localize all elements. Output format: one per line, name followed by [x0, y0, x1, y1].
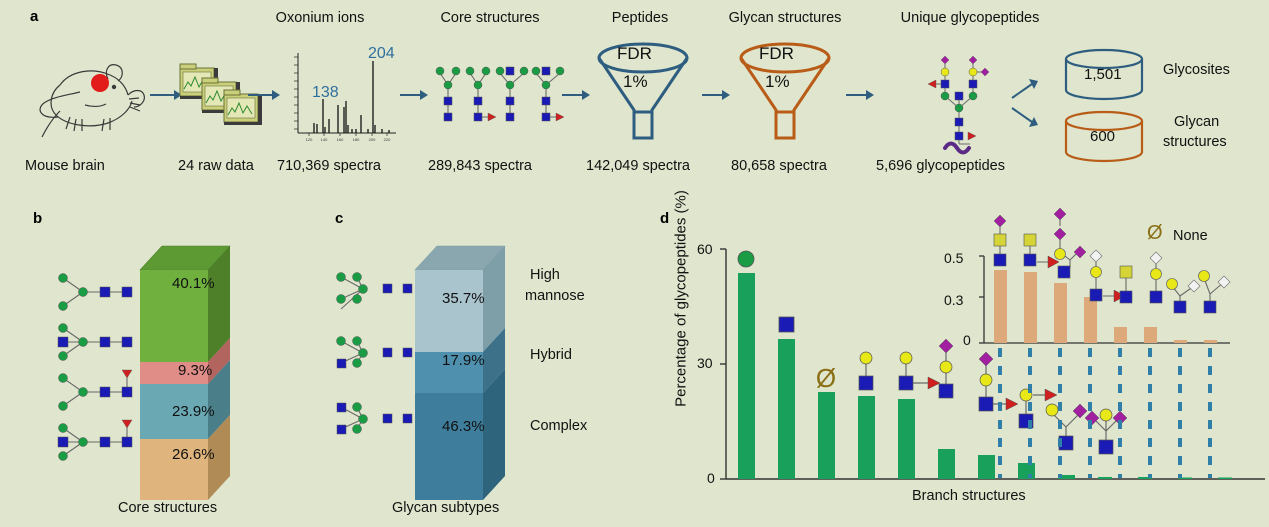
panel-d-inset-glyphs — [978, 200, 1238, 350]
panel-d-letter: d — [660, 210, 669, 227]
panel-c-letter: c — [335, 210, 343, 227]
svg-text:160: 160 — [337, 137, 344, 142]
glycan-structures-label-line1: Glycan — [1174, 114, 1219, 130]
panel-a-letter: a — [30, 8, 38, 25]
inset-ytick-0: 0 — [963, 332, 971, 348]
header-core-structures: Core structures — [405, 10, 575, 26]
arrow-icon-6 — [846, 88, 874, 102]
arrow-icon-2 — [248, 88, 280, 102]
arrow-icon-3 — [400, 88, 428, 102]
caption-total-spectra: 710,369 spectra — [277, 158, 381, 174]
panel-b-value-2: 9.3% — [178, 362, 212, 379]
svg-text:220: 220 — [384, 137, 391, 142]
inset-connector-lines — [978, 348, 1238, 480]
caption-glycan-spectra: 80,658 spectra — [731, 158, 827, 174]
caption-raw-data: 24 raw data — [178, 158, 254, 174]
svg-text:120: 120 — [306, 137, 313, 142]
panel-c-label-hybrid: Hybrid — [530, 347, 572, 363]
spectrum-peak-label-204: 204 — [368, 45, 395, 63]
inset-ytick-03: 0.3 — [944, 292, 963, 308]
glycosites-label: Glycosites — [1163, 62, 1230, 78]
panel-b-caption: Core structures — [118, 500, 217, 516]
panel-d-ytick-30: 30 — [697, 355, 713, 371]
caption-peptide-spectra: 142,049 spectra — [586, 158, 690, 174]
svg-text:200: 200 — [369, 137, 376, 142]
funnel-title-peptides: FDR — [617, 44, 652, 64]
svg-text:140: 140 — [321, 137, 328, 142]
caption-glycopeptides: 5,696 glycopeptides — [876, 158, 1005, 174]
panel-d-xlabel: Branch structures — [912, 488, 1026, 504]
caption-mouse-brain: Mouse brain — [25, 158, 105, 174]
header-oxonium-ions: Oxonium ions — [240, 10, 400, 26]
panel-c-value-2: 17.9% — [442, 352, 485, 369]
panel-b-value-1: 40.1% — [172, 275, 215, 292]
core-structures-glycans — [430, 55, 570, 145]
arrow-icon-5 — [702, 88, 730, 102]
funnel-value-peptides: 1% — [623, 72, 648, 92]
split-arrows-icon — [1010, 78, 1044, 128]
panel-b-value-3: 23.9% — [172, 403, 215, 420]
inset-ytick-05: 0.5 — [944, 250, 963, 266]
glycan-structures-count: 600 — [1090, 128, 1115, 145]
panel-b-value-4: 26.6% — [172, 446, 215, 463]
arrow-icon-4 — [562, 88, 590, 102]
panel-d-ytick-0: 0 — [707, 470, 715, 486]
figure-root: a Oxonium ions Core structures Peptides … — [0, 0, 1269, 527]
panel-c-label-mannose: mannose — [525, 288, 585, 304]
caption-core-spectra: 289,843 spectra — [428, 158, 532, 174]
panel-c-caption: Glycan subtypes — [392, 500, 499, 516]
funnel-title-glycans: FDR — [759, 44, 794, 64]
funnel-value-glycans: 1% — [765, 72, 790, 92]
panel-b-stacked-bar — [140, 232, 260, 482]
glycan-structures-label-line2: structures — [1163, 134, 1227, 150]
svg-text:Ø: Ø — [816, 363, 836, 393]
header-unique-glycopeptides: Unique glycopeptides — [860, 10, 1080, 26]
glycosites-count: 1,501 — [1084, 66, 1122, 83]
spectrum-peak-label-138: 138 — [312, 84, 339, 102]
panel-d-ylabel: Percentage of glycopeptides (%) — [673, 184, 690, 414]
header-peptides: Peptides — [575, 10, 705, 26]
svg-text:180: 180 — [353, 137, 360, 142]
brain-region-marker — [91, 74, 109, 92]
panel-c-value-1: 35.7% — [442, 290, 485, 307]
panel-b-letter: b — [33, 210, 42, 227]
mouse-brain-illustration — [30, 45, 150, 145]
panel-c-label-complex: Complex — [530, 418, 587, 434]
panel-c-value-3: 46.3% — [442, 418, 485, 435]
panel-d-ytick-60: 60 — [697, 241, 713, 257]
unique-glycopeptide-structure — [890, 48, 1000, 158]
panel-c-label-high: High — [530, 267, 560, 283]
header-glycan-structures: Glycan structures — [700, 10, 870, 26]
